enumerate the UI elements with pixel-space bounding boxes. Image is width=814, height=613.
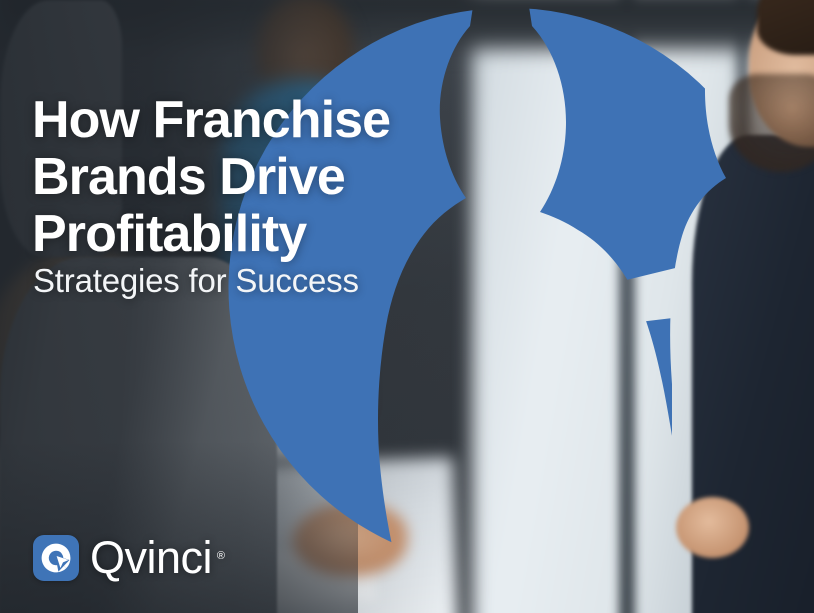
headline-line-3: Profitability — [32, 206, 462, 263]
qvinci-q-cursor-icon — [39, 541, 73, 575]
headline-line-1: How Franchise — [32, 92, 462, 149]
headline-line-2: Brands Drive — [32, 149, 462, 206]
qvinci-logo[interactable]: Qvinci ® — [33, 535, 212, 581]
cover-slide: How Franchise Brands Drive Profitability… — [0, 0, 814, 613]
qvinci-wordmark-text: Qvinci — [90, 532, 212, 583]
qvinci-wordmark: Qvinci ® — [90, 535, 212, 581]
registered-trademark-symbol: ® — [217, 533, 225, 579]
page-subtitle: Strategies for Success — [33, 262, 359, 300]
bottom-darkening-overlay — [0, 441, 358, 613]
page-title: How Franchise Brands Drive Profitability — [32, 92, 462, 263]
qvinci-logomark — [33, 535, 79, 581]
